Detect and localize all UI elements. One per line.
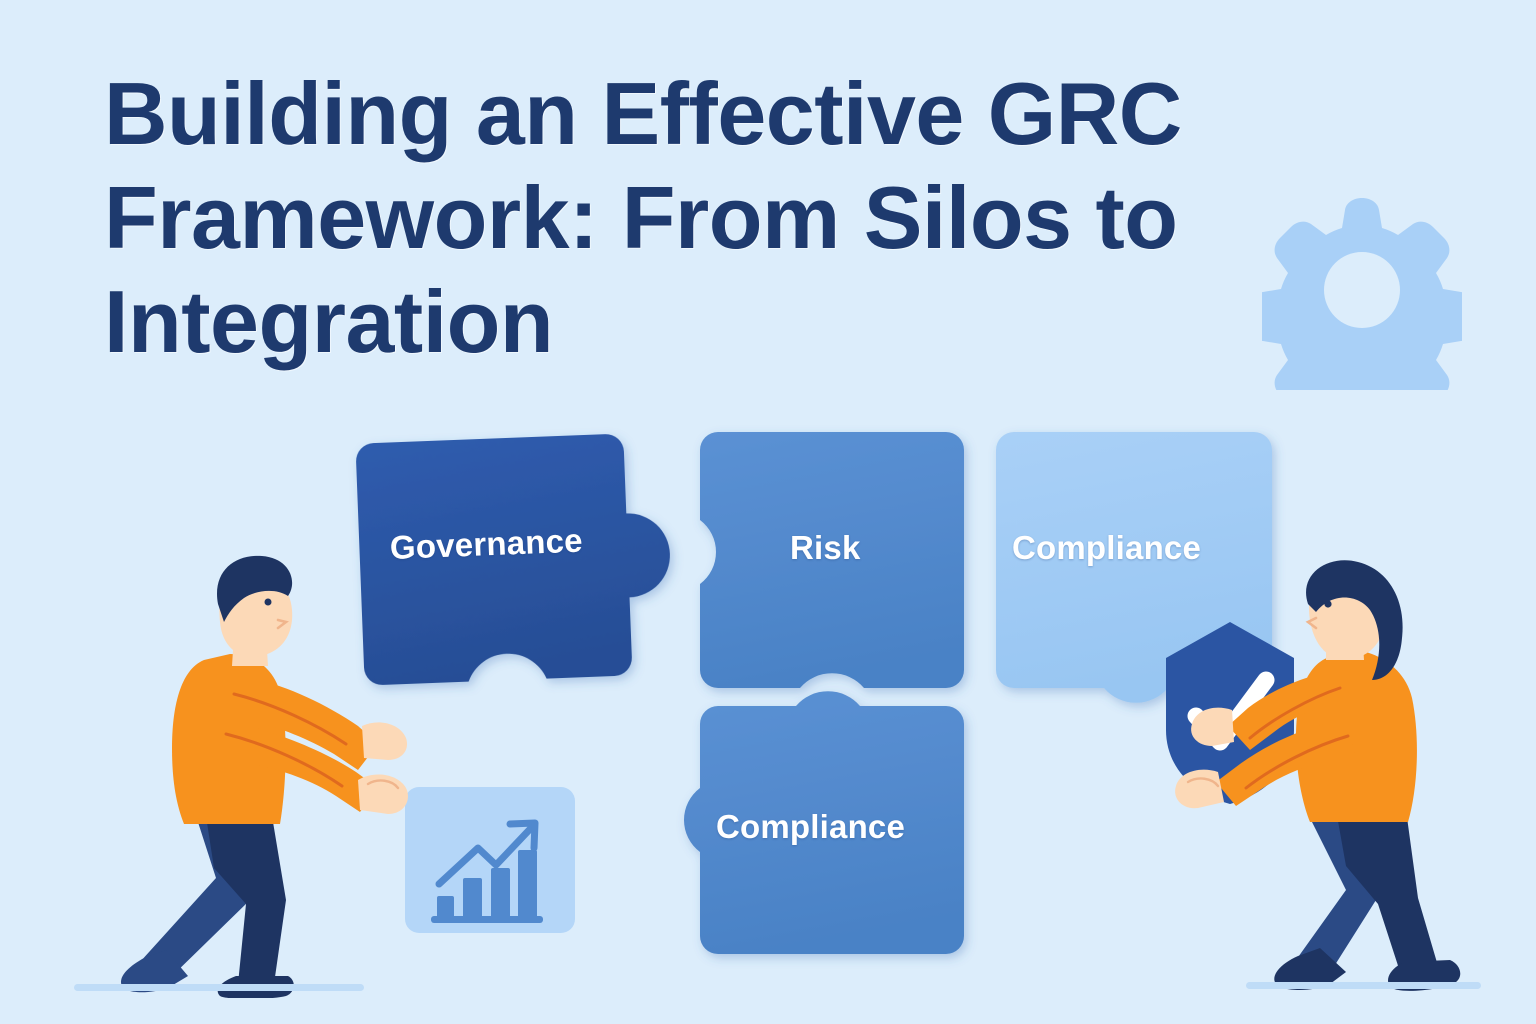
person-carrying-shield	[1150, 560, 1480, 1000]
growth-chart-icon	[404, 786, 576, 934]
ground-line-right	[1246, 982, 1481, 989]
puzzle-label-compliance-bottom: Compliance	[716, 808, 905, 846]
illustration-banner: Building an Effective GRC Framework: Fro…	[0, 0, 1536, 1024]
person-carrying-governance-piece	[110, 548, 420, 998]
ground-line-left	[74, 984, 364, 991]
puzzle-label-risk: Risk	[790, 529, 861, 567]
